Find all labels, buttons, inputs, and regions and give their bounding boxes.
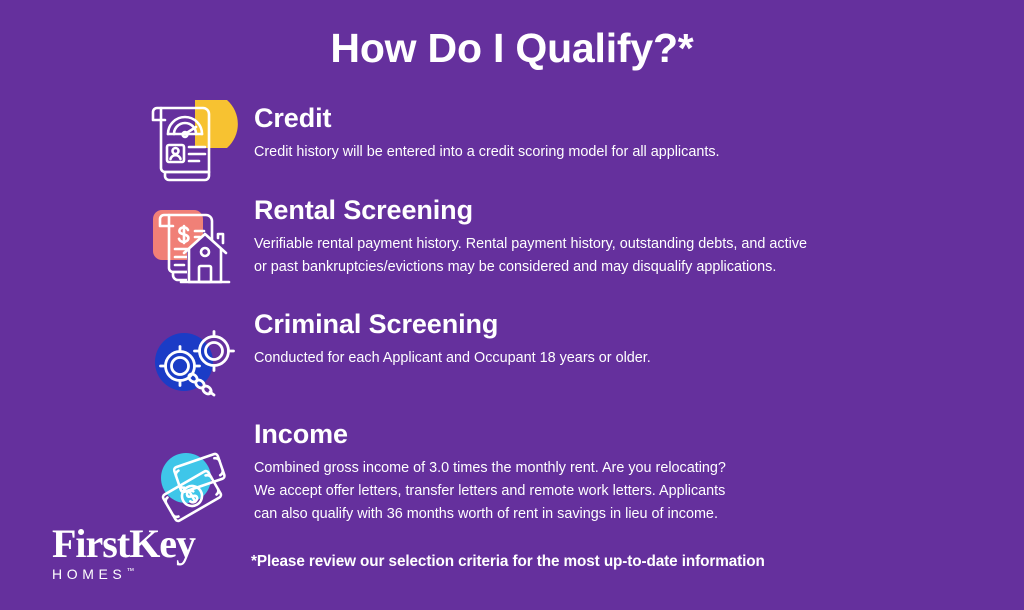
qualification-poster: How Do I Qualify?* <box>0 0 1024 610</box>
desc-line: We accept offer letters, transfer letter… <box>254 480 726 503</box>
brand-wordmark: FirstKey <box>52 524 252 563</box>
handcuffs-icon <box>148 318 244 410</box>
qualification-item-criminal-screening: Criminal Screening Conducted for each Ap… <box>148 306 948 410</box>
criminal-text-block: Criminal Screening Conducted for each Ap… <box>254 306 651 370</box>
section-title-credit: Credit <box>254 104 720 134</box>
brand-logo: FirstKey HOMES™ <box>52 524 252 582</box>
section-title-criminal-screening: Criminal Screening <box>254 310 651 340</box>
page-title: How Do I Qualify?* <box>0 26 1024 71</box>
desc-line: can also qualify with 36 months worth of… <box>254 503 726 526</box>
section-desc-income: Combined gross income of 3.0 times the m… <box>254 457 726 527</box>
section-desc-criminal-screening: Conducted for each Applicant and Occupan… <box>254 347 651 370</box>
brand-subtitle: HOMES™ <box>52 566 252 582</box>
rental-text-block: Rental Screening Verifiable rental payme… <box>254 194 807 279</box>
qualification-item-rental-screening: Rental Screening Verifiable rental payme… <box>148 194 948 294</box>
desc-line: or past bankruptcies/evictions may be co… <box>254 256 807 279</box>
desc-line: Credit history will be entered into a cr… <box>254 141 720 164</box>
desc-line: Combined gross income of 3.0 times the m… <box>254 457 726 480</box>
qualification-item-income: Income Combined gross income of 3.0 time… <box>148 420 948 536</box>
desc-line: Verifiable rental payment history. Renta… <box>254 233 807 256</box>
section-desc-credit: Credit history will be entered into a cr… <box>254 141 720 164</box>
qualification-item-credit: Credit Credit history will be entered in… <box>148 92 948 186</box>
credit-text-block: Credit Credit history will be entered in… <box>254 92 720 164</box>
trademark-symbol: ™ <box>126 567 134 576</box>
section-title-income: Income <box>254 420 726 450</box>
section-title-rental-screening: Rental Screening <box>254 196 807 226</box>
credit-report-icon <box>148 94 244 186</box>
section-desc-rental-screening: Verifiable rental payment history. Renta… <box>254 233 807 280</box>
brand-subtitle-text: HOMES <box>52 566 126 582</box>
rental-receipt-house-icon <box>148 202 244 294</box>
footnote-selection-criteria: *Please review our selection criteria fo… <box>251 553 765 571</box>
income-text-block: Income Combined gross income of 3.0 time… <box>254 420 726 527</box>
desc-line: Conducted for each Applicant and Occupan… <box>254 347 651 370</box>
